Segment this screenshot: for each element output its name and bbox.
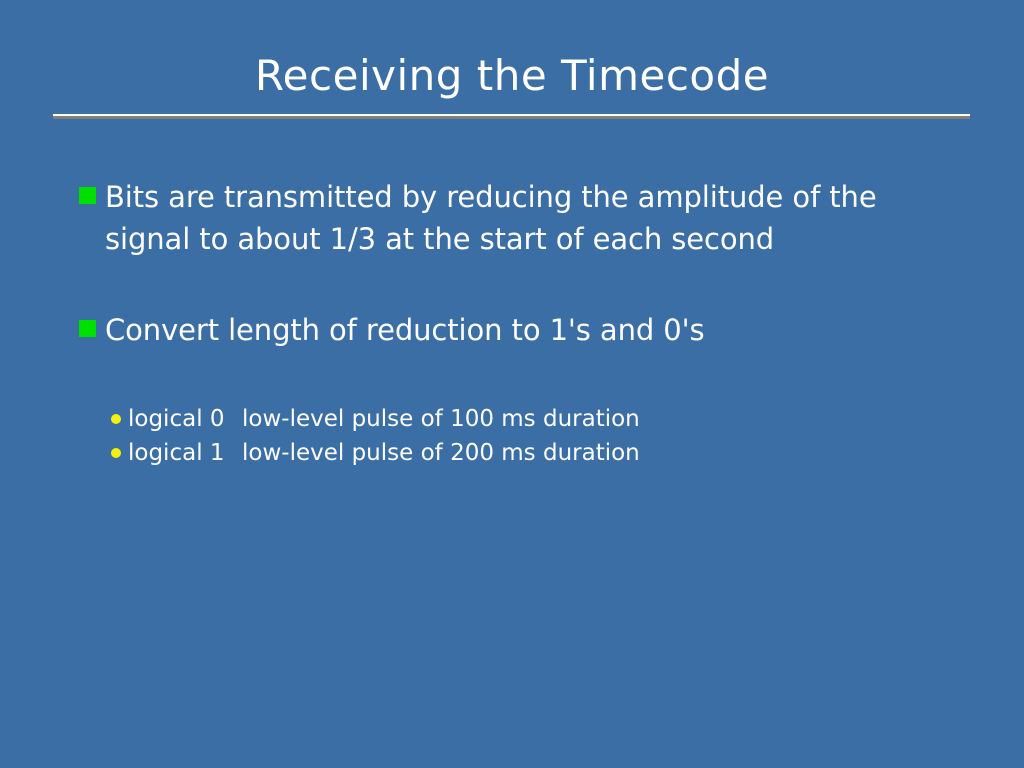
slide-body: Bits are transmitted by reducing the amp… xyxy=(0,0,1024,768)
yellow-dot-bullet-icon xyxy=(111,448,121,458)
sub-bullet-label: logical 1 xyxy=(128,437,242,470)
sub-bullet-row: logical 1low-level pulse of 200 ms durat… xyxy=(128,437,911,470)
green-square-bullet-icon xyxy=(79,320,96,337)
sub-bullet-description: low-level pulse of 200 ms duration xyxy=(242,437,640,470)
bullet-item: Convert length of reduction to 1's and 0… xyxy=(79,309,959,351)
bullet-item-text: Convert length of reduction to 1's and 0… xyxy=(105,309,959,351)
green-square-bullet-icon xyxy=(79,187,96,204)
bullet-item-text: Bits are transmitted by reducing the amp… xyxy=(105,176,905,260)
sub-bullet-label: logical 0 xyxy=(128,403,242,436)
presentation-slide: Receiving the Timecode Bits are transmit… xyxy=(0,0,1024,768)
sub-bullet-row: logical 0low-level pulse of 100 ms durat… xyxy=(128,403,911,436)
sub-bullet-description: low-level pulse of 100 ms duration xyxy=(242,403,640,436)
sub-bullet-item: logical 1low-level pulse of 200 ms durat… xyxy=(111,437,911,471)
bullet-item: Bits are transmitted by reducing the amp… xyxy=(79,176,959,260)
yellow-dot-bullet-icon xyxy=(111,414,121,424)
sub-bullet-item: logical 0low-level pulse of 100 ms durat… xyxy=(111,403,911,437)
